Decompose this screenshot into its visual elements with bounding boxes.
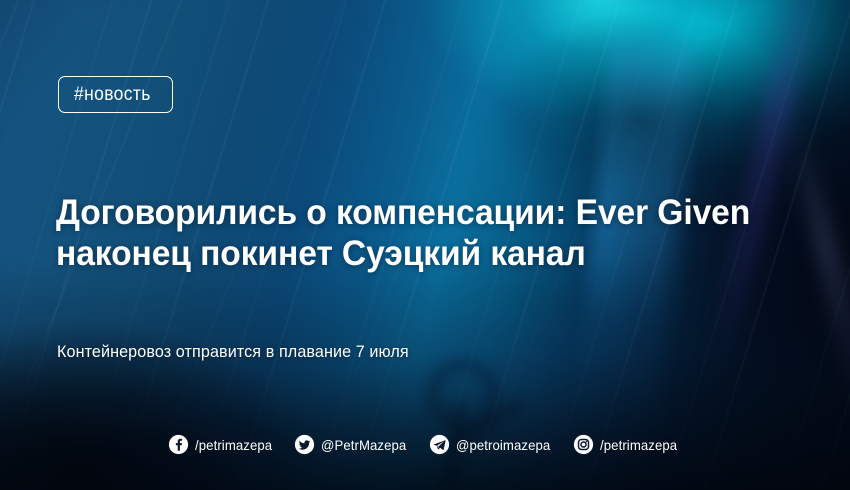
social-link-telegram[interactable]: @petroimazepa	[429, 434, 556, 455]
category-badge-label: #новость	[74, 85, 151, 104]
social-link-facebook[interactable]: /petrimazepa	[168, 434, 277, 455]
news-card: #новость Договорились о компенсации: Eve…	[0, 0, 850, 490]
facebook-icon	[168, 434, 189, 455]
telegram-icon	[429, 434, 450, 455]
social-link-twitter[interactable]: @PetrMazepa	[294, 434, 412, 455]
category-badge[interactable]: #новость	[58, 76, 173, 113]
headline-line-1: Договорились о компенсации: Ever Given	[56, 192, 670, 233]
instagram-icon	[573, 434, 594, 455]
social-handle-facebook: /petrimazepa	[195, 437, 272, 453]
social-links-bar: /petrimazepa @PetrMazepa @petroimazepa	[0, 434, 850, 455]
social-link-instagram[interactable]: /petrimazepa	[573, 434, 682, 455]
social-handle-twitter: @PetrMazepa	[321, 437, 406, 453]
headline-line-2: наконец покинет Суэцкий канал	[56, 233, 670, 274]
card-content: #новость Договорились о компенсации: Eve…	[0, 0, 850, 490]
social-handle-instagram: /petrimazepa	[600, 437, 677, 453]
page-title: Договорились о компенсации: Ever Given н…	[56, 192, 696, 275]
social-handle-telegram: @petroimazepa	[456, 437, 550, 453]
twitter-icon	[294, 434, 315, 455]
page-subtitle: Контейнеровоз отправится в плавание 7 ию…	[57, 342, 409, 362]
